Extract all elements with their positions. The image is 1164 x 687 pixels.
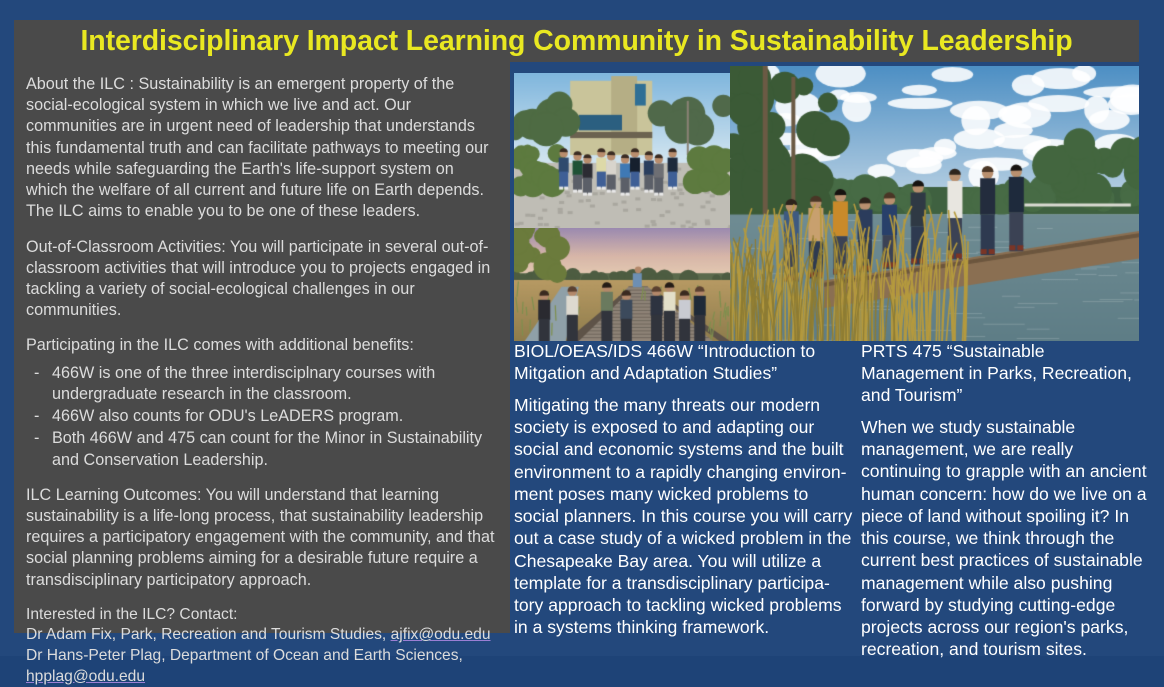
photo-group-in-front-of-building bbox=[514, 73, 730, 228]
page-title: Interdisciplinary Impact Learning Commun… bbox=[80, 27, 1072, 56]
contact-person-2: hpplag@odu.edu bbox=[26, 667, 496, 687]
benefits-list: - 466W is one of the three interdiscipln… bbox=[26, 363, 496, 471]
list-item-label: Both 466W and 475 can count for the Mino… bbox=[52, 429, 482, 468]
left-info-panel: About the ILC : Sustainability is an eme… bbox=[14, 62, 510, 633]
email-link-hpplag[interactable]: hpplag@odu.edu bbox=[26, 668, 145, 685]
ilc-learning-outcomes-paragraph: ILC Learning Outcomes: You will understa… bbox=[26, 485, 496, 591]
about-ilc-paragraph: About the ILC : Sustainability is an eme… bbox=[26, 74, 496, 223]
contact-block: Interested in the ILC? Contact: Dr Adam … bbox=[26, 605, 496, 687]
poster-root: Interdisciplinary Impact Learning Commun… bbox=[0, 0, 1164, 656]
contact-person-2-name: Dr Hans-Peter Plag, Department of Ocean … bbox=[26, 646, 496, 667]
photo-canvas bbox=[730, 66, 1139, 341]
photo-group-on-fallen-log bbox=[730, 66, 1139, 341]
photo-canvas bbox=[514, 73, 730, 228]
course-466w-body: Mitigating the many threats our modern s… bbox=[514, 394, 855, 639]
list-item-label: 466W also counts for ODU's LeADERS progr… bbox=[52, 407, 403, 425]
list-item: - 466W is one of the three interdiscipln… bbox=[26, 363, 496, 405]
course-prts475-body: When we study sustainable management, we… bbox=[861, 416, 1150, 661]
course-column-466w: BIOL/OEAS/IDS 466W “Introduction to Mitg… bbox=[514, 341, 856, 639]
course-column-prts475: PRTS 475 “Sustainable Management in Park… bbox=[861, 341, 1151, 661]
course-466w-heading: BIOL/OEAS/IDS 466W “Introduction to Mitg… bbox=[514, 341, 856, 385]
course-prts475-heading: PRTS 475 “Sustainable Management in Park… bbox=[861, 341, 1151, 407]
benefits-intro-text: Participating in the ILC comes with addi… bbox=[26, 335, 496, 356]
photo-canvas bbox=[514, 228, 730, 341]
list-item: - Both 466W and 475 can count for the Mi… bbox=[26, 428, 496, 470]
email-link-ajfix[interactable]: ajfix@odu.edu bbox=[391, 626, 491, 643]
list-item-label: 466W is one of the three interdisciplnar… bbox=[52, 364, 435, 403]
list-item: - 466W also counts for ODU's LeADERS pro… bbox=[26, 406, 496, 427]
contact-person-1-name: Dr Adam Fix, Park, Recreation and Touris… bbox=[26, 626, 391, 643]
dash-bullet-icon: - bbox=[34, 406, 39, 427]
contact-person-1: Dr Adam Fix, Park, Recreation and Touris… bbox=[26, 625, 496, 646]
dash-bullet-icon: - bbox=[34, 428, 39, 449]
contact-heading: Interested in the ILC? Contact: bbox=[26, 605, 496, 626]
out-of-classroom-activities-paragraph: Out-of-Classroom Activities: You will pa… bbox=[26, 237, 496, 322]
poster-title-bar: Interdisciplinary Impact Learning Commun… bbox=[14, 20, 1139, 62]
dash-bullet-icon: - bbox=[34, 363, 39, 384]
photo-boardwalk-marsh-walk bbox=[514, 228, 730, 341]
